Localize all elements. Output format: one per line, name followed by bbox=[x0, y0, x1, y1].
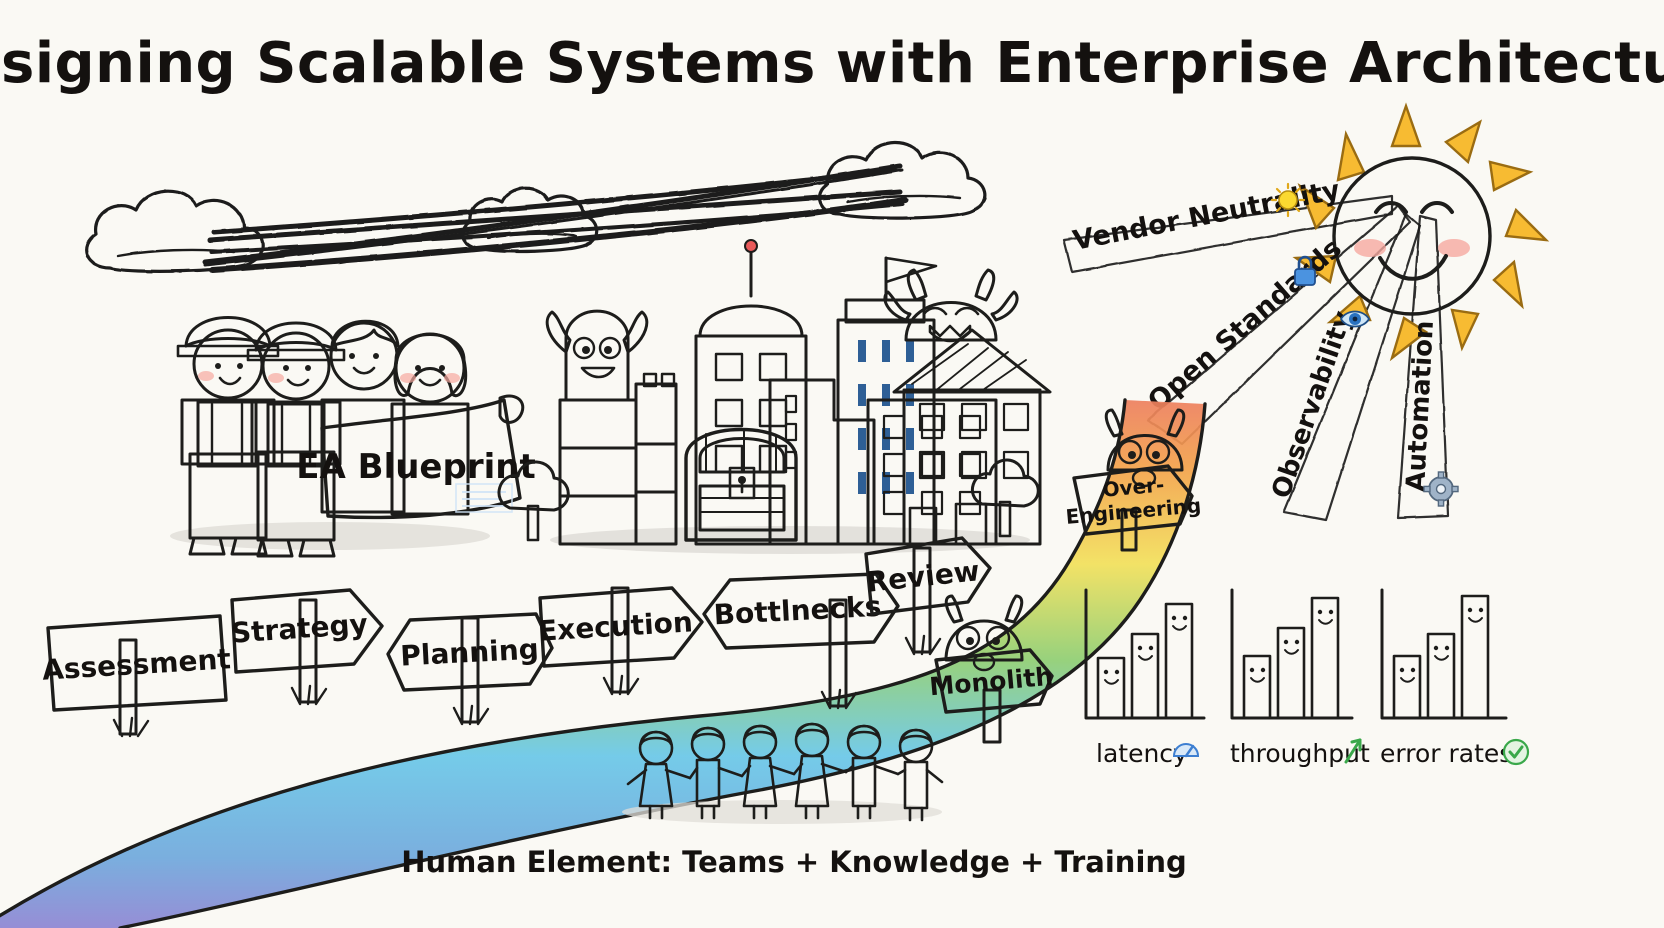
sign-assessment[interactable]: Assessment bbox=[41, 616, 231, 736]
ea-blueprint-group: EA Blueprint bbox=[170, 318, 536, 557]
sign-strategy[interactable]: Strategy bbox=[230, 590, 382, 704]
chart-throughput: throughput bbox=[1230, 590, 1370, 768]
sun-face bbox=[1334, 158, 1490, 314]
sun-icon bbox=[1272, 184, 1304, 216]
bar-throughput-1 bbox=[1244, 656, 1270, 718]
bar-throughput-3 bbox=[1312, 598, 1338, 718]
monster-teal bbox=[885, 270, 1017, 341]
bar-throughput-2 bbox=[1278, 628, 1304, 718]
sign-planning[interactable]: Planning bbox=[388, 614, 552, 724]
sign-execution[interactable]: Execution bbox=[537, 588, 702, 694]
svg-text:Bottlnecks: Bottlnecks bbox=[713, 590, 882, 632]
eye-icon bbox=[1341, 312, 1369, 327]
ea-blueprint-label: EA Blueprint bbox=[296, 447, 535, 487]
bar-latency-1 bbox=[1098, 658, 1124, 718]
svg-text:Execution: Execution bbox=[537, 605, 694, 647]
chart-label-error-rates: error rates bbox=[1380, 739, 1512, 768]
monster-yellow bbox=[547, 311, 647, 400]
chart-error-rates: error rates bbox=[1380, 590, 1528, 768]
city-skyline bbox=[499, 240, 1050, 554]
svg-text:Strategy: Strategy bbox=[230, 607, 369, 649]
bar-latency-3 bbox=[1166, 604, 1192, 718]
sign-review[interactable]: Review bbox=[865, 538, 990, 654]
beam-label-observability: Observability bbox=[1266, 307, 1369, 502]
svg-text:Review: Review bbox=[865, 554, 981, 599]
beam-label-automation: Automation bbox=[1401, 320, 1458, 506]
page-title: Designing Scalable Systems with Enterpri… bbox=[0, 31, 1664, 96]
worker-yellow-helmet bbox=[178, 318, 278, 555]
cloud-network bbox=[86, 142, 985, 271]
metrics-charts: latency throughpu bbox=[1086, 590, 1528, 768]
chart-label-throughput: throughput bbox=[1230, 739, 1370, 768]
svg-text:Observability: Observability bbox=[1266, 307, 1358, 502]
svg-text:Planning: Planning bbox=[399, 632, 539, 672]
svg-text:Assessment: Assessment bbox=[41, 642, 231, 686]
illustration-canvas: Designing Scalable Systems with Enterpri… bbox=[0, 0, 1664, 928]
hand-drawn-illustration: Designing Scalable Systems with Enterpri… bbox=[0, 0, 1664, 928]
bar-latency-2 bbox=[1132, 634, 1158, 718]
bar-error-2 bbox=[1428, 634, 1454, 718]
check-icon bbox=[1504, 740, 1528, 764]
beam-label-vendor-neutrality: Vendor Neutrality bbox=[1070, 175, 1342, 257]
bar-error-1 bbox=[1394, 656, 1420, 718]
footer-caption: Human Element: Teams + Knowledge + Train… bbox=[401, 845, 1187, 879]
svg-text:Vendor Neutrality: Vendor Neutrality bbox=[1070, 175, 1342, 257]
bar-error-3 bbox=[1462, 596, 1488, 718]
